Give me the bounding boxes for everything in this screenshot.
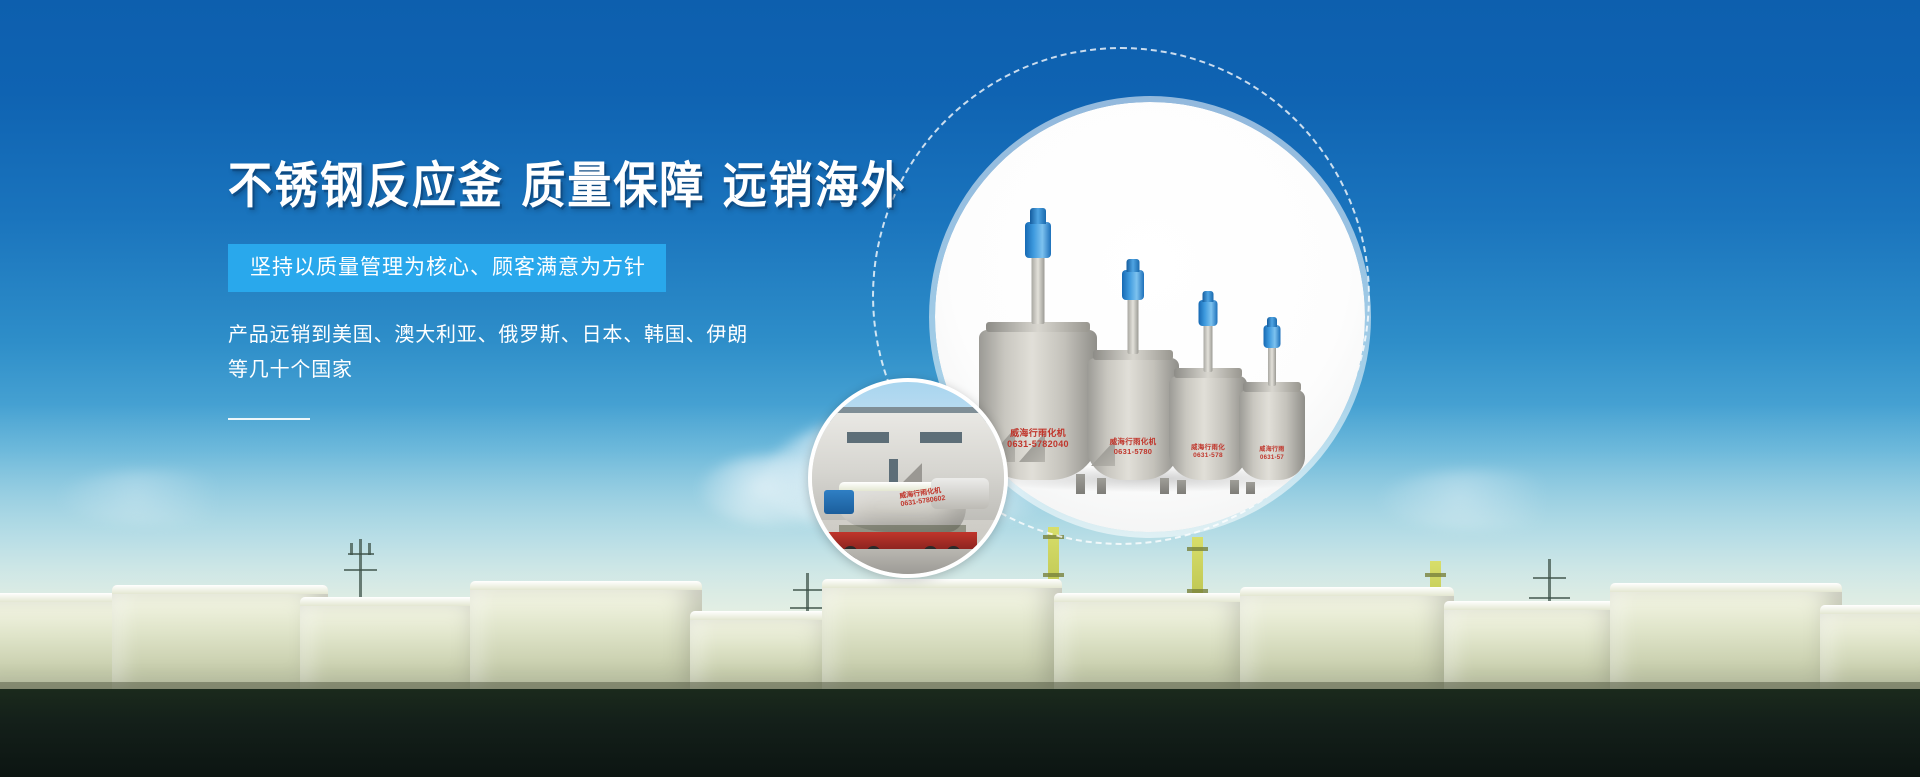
banner-body-line-1: 产品远销到美国、澳大利亚、俄罗斯、日本、韩国、伊朗 [228, 318, 988, 353]
storage-tank [1240, 587, 1454, 689]
banner-text-block: 不锈钢反应釜 质量保障 远销海外 坚持以质量管理为核心、顾客满意为方针 产品远销… [228, 160, 988, 420]
storage-tank [1054, 593, 1250, 689]
storage-tank [1820, 605, 1920, 689]
waterfront [0, 689, 1920, 777]
banner-subtitle-bar: 坚持以质量管理为核心、顾客满意为方针 [228, 244, 666, 292]
reactor-brand-line2: 0631-5782040 [1007, 439, 1069, 449]
storage-tank [822, 579, 1062, 689]
banner-headline: 不锈钢反应釜 质量保障 远销海外 [228, 160, 988, 214]
reactor-brand-line2: 0631-578 [1193, 452, 1223, 459]
reactor-brand-line1: 威海行雨化 [1191, 444, 1225, 451]
reactor-brand-line2: 0631-57 [1260, 455, 1284, 461]
divider-rule [228, 418, 310, 420]
banner-body-line-2: 等几十个国家 [228, 353, 988, 388]
storage-tank [1444, 601, 1624, 689]
storage-tank [1610, 583, 1842, 689]
storage-tank [112, 585, 328, 689]
workshop-window [920, 432, 962, 444]
storage-tank [300, 597, 490, 689]
workshop-window [847, 432, 889, 444]
reactor-brand-line1: 威海行雨化机 [1110, 437, 1157, 446]
ground [812, 549, 1004, 574]
reactor-vessel: 威海行雨 0631-57 [1239, 368, 1305, 480]
banner-body-text: 产品远销到美国、澳大利亚、俄罗斯、日本、韩国、伊朗 等几十个国家 [228, 318, 988, 388]
reactor-brand-line2: 0631-5780 [1114, 447, 1153, 456]
reactor-brand-line1: 威海行雨 [1259, 447, 1284, 453]
blue-motor [824, 490, 855, 515]
reactor-vessel: 威海行雨化机 0631-5780 [1087, 330, 1179, 480]
storage-tank [470, 581, 702, 689]
storage-tank [690, 611, 840, 689]
hero-banner: 威海行雨化机 0631-5782040 威海行雨化机 0631-5780 [0, 0, 1920, 777]
reactor-brand-line1: 威海行雨化机 [1010, 428, 1066, 438]
reactor-vessel: 威海行雨化 0631-578 [1169, 352, 1247, 480]
